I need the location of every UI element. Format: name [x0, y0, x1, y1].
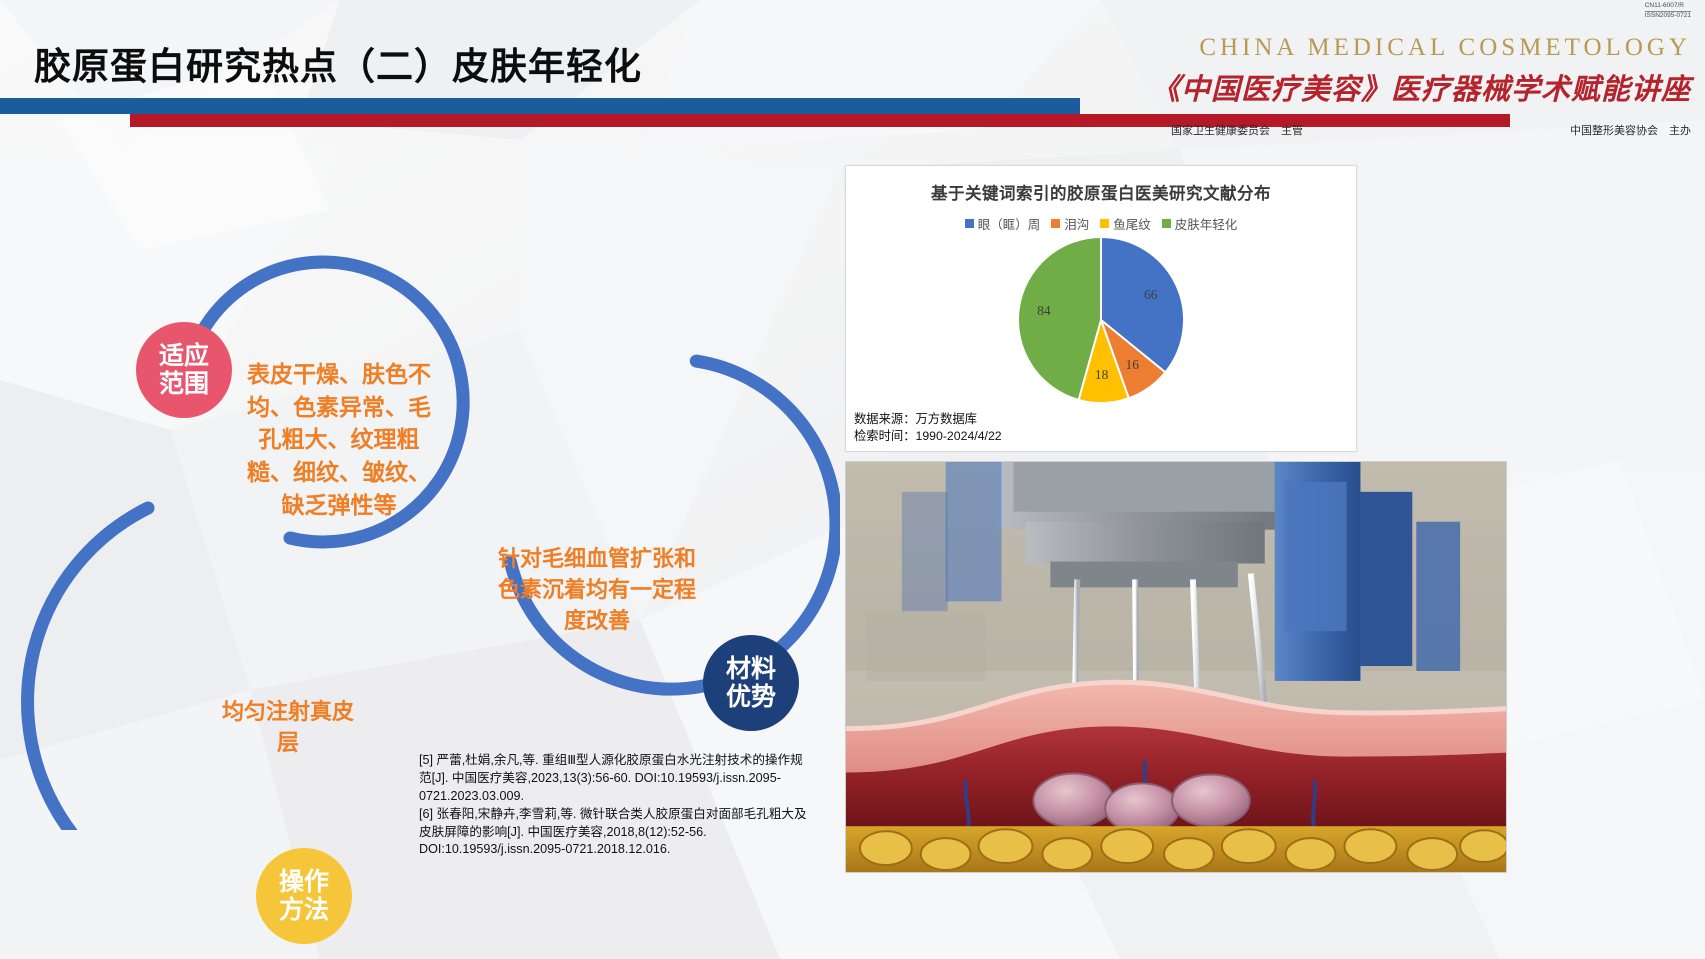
- bubble-operation-method[interactable]: 操作 方法: [256, 848, 352, 944]
- legend-swatch-icon-1: [1051, 219, 1060, 228]
- chart-legend: 眼（眶）周 泪沟 鱼尾纹 皮肤年轻化: [846, 214, 1356, 233]
- masthead-organizer: 中国整形美容协会 主办: [1570, 122, 1691, 138]
- reference-line-5: 皮肤屏障的影响[J]. 中国医疗美容,2018,8(12):52-56.: [419, 824, 819, 842]
- reference-line-3: 0721.2023.03.009.: [419, 788, 819, 806]
- legend-label-3: 皮肤年轻化: [1175, 214, 1238, 233]
- legend-item-2[interactable]: 鱼尾纹: [1100, 214, 1151, 233]
- bubble-method-line1: 操作: [279, 868, 329, 896]
- method-description-text: 均匀注射真皮层: [213, 696, 363, 758]
- chart-source-note: 数据来源：万方数据库 检索时间：1990-2024/4/22: [854, 411, 1002, 445]
- legend-item-3[interactable]: 皮肤年轻化: [1162, 214, 1238, 233]
- issn-block: CN11-6007/R ISSN2095-0721: [1645, 2, 1691, 21]
- chart-title: 基于关键词索引的胶原蛋白医美研究文献分布: [846, 180, 1356, 204]
- indication-text: 表皮干燥、肤色不均、色素异常、毛孔粗大、纹理粗糙、细纹、皱纹、缺乏弹性等: [243, 358, 435, 521]
- issn-code: ISSN2095-0721: [1645, 12, 1691, 21]
- pie-label-0: 66: [1144, 287, 1158, 303]
- references-block: [5] 严蕾,杜娟,余凡,等. 重组Ⅲ型人源化胶原蛋白水光注射技术的操作规 范[…: [419, 752, 819, 859]
- pie-label-3: 84: [1037, 303, 1051, 319]
- pie-label-2: 18: [1095, 367, 1109, 383]
- legend-swatch-icon-3: [1162, 219, 1171, 228]
- page-title: 胶原蛋白研究热点（二）皮肤年轻化: [34, 36, 642, 90]
- reference-line-1: [5] 严蕾,杜娟,余凡,等. 重组Ⅲ型人源化胶原蛋白水光注射技术的操作规: [419, 752, 819, 770]
- bubble-adaptation-label: 适应 范围: [159, 342, 209, 398]
- bubble-adaptation-line2: 范围: [159, 370, 209, 398]
- masthead-chinese-title: 《中国医疗美容》医疗器械学术赋能讲座: [1151, 66, 1691, 108]
- journal-masthead: CN11-6007/R ISSN2095-0721 CHINA MEDICAL …: [1151, 2, 1691, 108]
- chart-card: 基于关键词索引的胶原蛋白医美研究文献分布 眼（眶）周 泪沟 鱼尾纹 皮肤年轻化 …: [845, 165, 1357, 452]
- bubble-material-line2: 优势: [726, 683, 776, 711]
- masthead-credits: 国家卫生健康委员会 主管 中国整形美容协会 主办: [1171, 122, 1691, 138]
- reference-line-4: [6] 张春阳,宋静卉,李雪莉,等. 微针联合类人胶原蛋白对面部毛孔粗大及: [419, 806, 819, 824]
- slide-root: 胶原蛋白研究热点（二）皮肤年轻化 CN11-6007/R ISSN2095-07…: [0, 0, 1705, 959]
- arc-lower: [28, 508, 340, 830]
- legend-swatch-icon-2: [1100, 219, 1109, 228]
- pie-label-1: 16: [1126, 357, 1140, 373]
- masthead-english-title: CHINA MEDICAL COSMETOLOGY: [1151, 34, 1691, 62]
- bubble-method-line2: 方法: [279, 896, 329, 924]
- legend-label-0: 眼（眶）周: [978, 214, 1041, 233]
- legend-item-0[interactable]: 眼（眶）周: [965, 214, 1041, 233]
- chart-source-line1: 数据来源：万方数据库: [854, 411, 1002, 428]
- masthead-supervisor: 国家卫生健康委员会 主管: [1171, 122, 1303, 138]
- reference-line-2: 范[J]. 中国医疗美容,2023,13(3):56-60. DOI:10.19…: [419, 770, 819, 788]
- microneedle-skin-photo: [845, 461, 1507, 873]
- legend-item-1[interactable]: 泪沟: [1051, 214, 1089, 233]
- reference-line-6: DOI:10.19593/j.issn.2095-0721.2018.12.01…: [419, 841, 819, 859]
- legend-label-2: 鱼尾纹: [1113, 214, 1151, 233]
- header-rule-blue: [0, 98, 1080, 114]
- bubble-adaptation-line1: 适应: [159, 342, 209, 370]
- bubble-material-label: 材料 优势: [726, 655, 776, 711]
- bubble-material-line1: 材料: [726, 655, 776, 683]
- bubble-method-label: 操作 方法: [279, 868, 329, 924]
- bubble-material-advantage[interactable]: 材料 优势: [703, 635, 799, 731]
- circular-diagram: 适应 范围 材料 优势 操作 方法 表皮干燥、肤色不均、色素异常、毛孔粗大、纹理…: [0, 130, 840, 830]
- chart-source-line2: 检索时间：1990-2024/4/22: [854, 428, 1002, 445]
- legend-swatch-icon-0: [965, 219, 974, 228]
- cn-code: CN11-6007/R: [1645, 2, 1691, 12]
- legend-label-1: 泪沟: [1064, 214, 1089, 233]
- bubble-adaptation-scope[interactable]: 适应 范围: [136, 322, 232, 418]
- pie-chart: 66161884: [846, 235, 1356, 405]
- benefit-text: 针对毛细血管扩张和色素沉着均有一定程度改善: [497, 543, 697, 637]
